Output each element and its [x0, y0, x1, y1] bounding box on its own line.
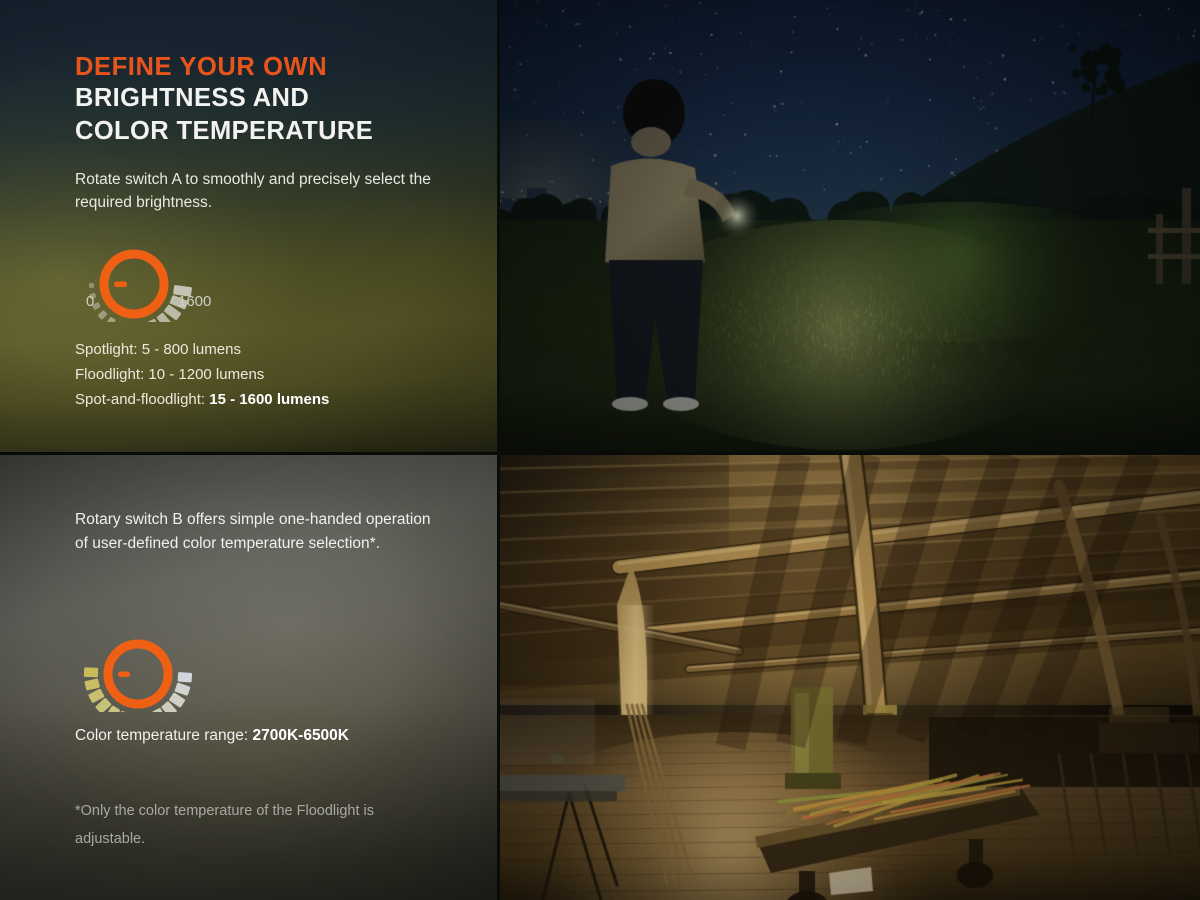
color-temperature-range: Color temperature range: 2700K-6500K [75, 727, 349, 745]
lumens-spec-label: Spotlight: [75, 341, 142, 358]
brightness-knob-indicator [114, 282, 127, 288]
footnote-text: *Only the color temperature of the Flood… [75, 798, 435, 853]
lumens-spec-list: Spotlight: 5 - 800 lumensFloodlight: 10 … [75, 338, 329, 413]
page-title: DEFINE YOUR OWN BRIGHTNESS AND COLOR TEM… [75, 52, 373, 147]
vertical-divider [497, 0, 500, 900]
industrial-workshop-floodlight-photo-canvas [499, 455, 1200, 900]
night-photo-canvas-wrap [499, 0, 1200, 452]
lumens-spec-label: Spot-and-floodlight: [75, 391, 209, 408]
brightness-min-label: 0 [86, 293, 94, 310]
heading-accent-line: DEFINE YOUR OWN [75, 52, 373, 82]
heading-line-1: BRIGHTNESS AND [75, 82, 373, 115]
brightness-dial-graphic [72, 222, 242, 322]
dial-segment [84, 667, 98, 677]
night-field-flashlight-photo [499, 0, 1200, 452]
color-temperature-knob-ring [108, 644, 168, 704]
lumens-spec-value: 15 - 1600 lumens [209, 391, 329, 408]
lumens-spec-value: 5 - 800 lumens [142, 341, 241, 358]
night-field-flashlight-photo-canvas [499, 0, 1200, 452]
lumens-spec-row: Spot-and-floodlight: 15 - 1600 lumens [75, 388, 329, 413]
heading-line-2: COLOR TEMPERATURE [75, 115, 373, 148]
color-temperature-dial[interactable] [78, 612, 228, 712]
brightness-dial[interactable] [72, 222, 242, 322]
lumens-spec-value: 10 - 1200 lumens [148, 366, 264, 383]
color-temperature-dial-graphic [78, 612, 228, 712]
brightness-knob-ring [104, 254, 164, 314]
horizontal-divider [0, 452, 1200, 455]
dial-segment [174, 682, 190, 696]
dial-segment [84, 678, 100, 690]
color-temperature-range-value: 2700K-6500K [252, 727, 349, 744]
industrial-workshop-floodlight-photo [499, 455, 1200, 900]
dial-segment [178, 672, 193, 682]
color-temperature-intro-text: Rotary switch B offers simple one-handed… [75, 508, 435, 556]
lumens-spec-label: Floodlight: [75, 366, 148, 383]
dial-segment [97, 310, 107, 320]
brightness-intro-text: Rotate switch A to smoothly and precisel… [75, 168, 455, 215]
workshop-photo-canvas-wrap [499, 455, 1200, 900]
dial-segment [116, 321, 126, 322]
feature-page: DEFINE YOUR OWN BRIGHTNESS AND COLOR TEM… [0, 0, 1200, 900]
lumens-spec-row: Spotlight: 5 - 800 lumens [75, 338, 329, 363]
color-temperature-range-label: Color temperature range: [75, 727, 252, 744]
dial-segment [106, 316, 116, 322]
color-temperature-knob-indicator [118, 672, 130, 678]
lumens-spec-row: Floodlight: 10 - 1200 lumens [75, 363, 329, 388]
brightness-max-label: 1600 [178, 293, 211, 310]
brightness-info-panel: DEFINE YOUR OWN BRIGHTNESS AND COLOR TEM… [0, 0, 499, 452]
dial-segment [89, 283, 94, 288]
